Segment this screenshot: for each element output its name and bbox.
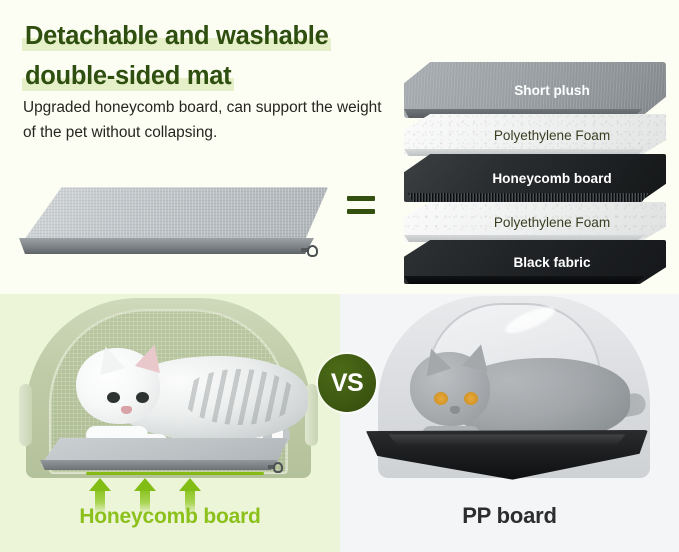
mat-side-edge xyxy=(19,238,317,254)
headline-line-2: double-sided mat xyxy=(22,56,234,96)
label-pp-board: PP board xyxy=(340,503,679,529)
layer-label: Short plush xyxy=(480,83,590,98)
cat-eye-left xyxy=(107,392,120,403)
zipper-pull-icon xyxy=(301,244,323,259)
layer-label: Honeycomb board xyxy=(458,171,611,186)
carrier-handle-left-icon xyxy=(19,384,32,446)
flat-mat-illustration xyxy=(40,438,288,476)
equals-sign-icon xyxy=(347,196,375,214)
headline-block: Detachable and washable double-sided mat xyxy=(22,16,402,96)
sagging-mat-illustration xyxy=(366,430,648,484)
headline-line-1: Detachable and washable xyxy=(22,16,331,56)
layer-label: Black fabric xyxy=(479,255,590,270)
cat-ear-left xyxy=(419,345,451,377)
layer-label: Polyethylene Foam xyxy=(460,215,610,230)
cat-eye-right xyxy=(464,392,478,405)
cat-nose xyxy=(121,406,132,414)
layer-item: Honeycomb board xyxy=(404,154,666,202)
honeycomb-flute-edge xyxy=(408,193,649,202)
layer-item: Polyethylene Foam xyxy=(404,202,666,242)
layer-item: Short plush xyxy=(404,62,666,118)
layer-item: Polyethylene Foam xyxy=(404,114,666,156)
cat-ear-left xyxy=(93,343,125,375)
cat-nose xyxy=(450,406,460,414)
top-panel: Detachable and washable double-sided mat… xyxy=(0,0,679,294)
straight-support-line xyxy=(86,472,264,475)
layer-item: Black fabric xyxy=(404,240,666,284)
vs-badge: VS xyxy=(318,354,376,412)
layer-stack-diagram: Short plush Polyethylene Foam Honeycomb … xyxy=(404,62,666,268)
label-honeycomb-board: Honeycomb board xyxy=(0,505,340,529)
cat-eye-right xyxy=(136,392,149,403)
cat-eye-left xyxy=(434,392,448,405)
mat-product-illustration xyxy=(18,186,328,286)
vs-badge-label: VS xyxy=(331,369,363,398)
layer-label: Polyethylene Foam xyxy=(460,128,610,143)
body-copy: Upgraded honeycomb board, can support th… xyxy=(23,96,383,145)
